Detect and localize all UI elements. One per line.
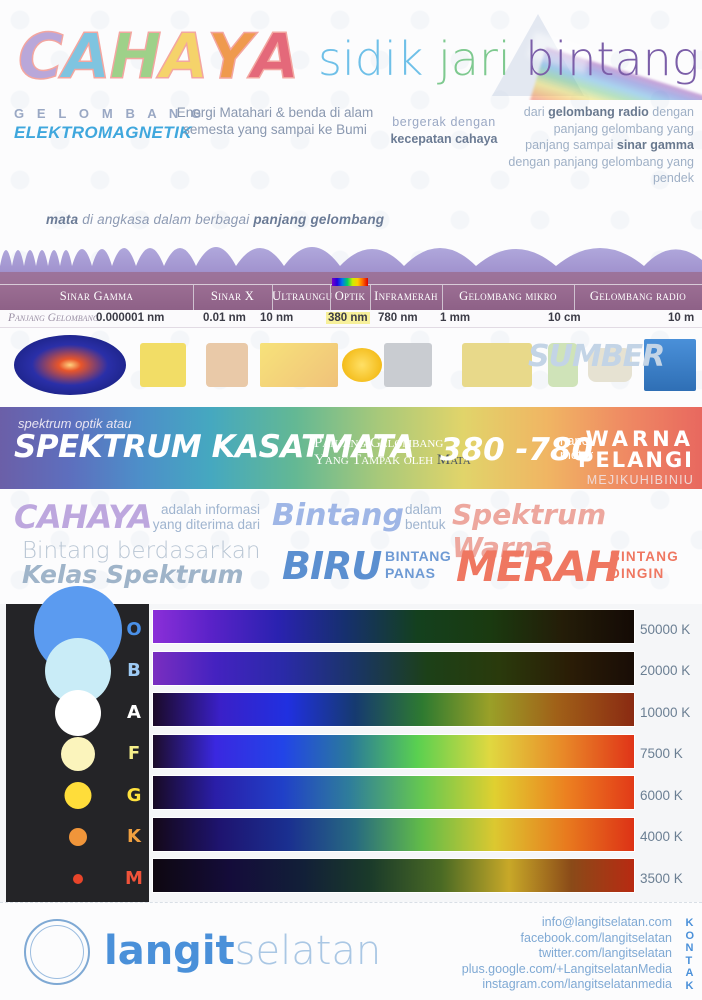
mid-bintang-dingin: BINTANG DINGIN	[610, 548, 679, 582]
title-letter-3: A	[160, 26, 207, 88]
spectrum-row-K	[152, 817, 635, 852]
wavelength-value-4: 780 nm	[378, 312, 418, 324]
energi-text: Energi Matahari & benda di alam semesta …	[175, 104, 375, 138]
em-band-inframerah: Inframerah	[370, 289, 442, 307]
bergerak-text: bergerak dengan kecepatan cahaya	[384, 114, 504, 148]
em-band-ultraungu: Ultraungu	[272, 289, 330, 307]
warna-line3: MEJIKUHIBINIU	[578, 473, 694, 487]
wavelength-value-5: 1 mm	[440, 312, 470, 324]
page-subtitle: sidik jari bintang	[318, 34, 699, 84]
optical-rainbow-strip	[332, 278, 368, 286]
temperature-label-K: 4000 K	[640, 829, 683, 844]
wavelength-value-6: 10 cm	[548, 312, 581, 324]
temperature-label-G: 6000 K	[640, 788, 683, 803]
sumber-label: SUMBER	[528, 339, 664, 374]
middle-statements: CAHAYA adalah informasi yang diterima da…	[0, 492, 702, 592]
subtitle-word-1: jari	[438, 32, 525, 86]
wave-svg	[0, 226, 702, 286]
xray-child-icon	[206, 343, 248, 387]
contact-list: info@langitselatan.comfacebook.com/langi…	[462, 915, 672, 993]
title-letter-4: Y	[207, 26, 251, 88]
title-letter-0: C	[18, 26, 63, 88]
kontak-letter-5: K	[685, 980, 694, 993]
mid-kelas-spektrum: Kelas Spektrum	[22, 560, 244, 589]
wavelength-value-1: 0.01 nm	[203, 312, 246, 324]
mid-merah: MERAH	[456, 542, 619, 591]
heater-radiator-icon	[384, 343, 432, 387]
spectrum-row-A	[152, 692, 635, 727]
mid-panas-l2: PANAS	[385, 565, 451, 582]
em-band-divider	[193, 285, 194, 311]
bergerak-bold: kecepatan cahaya	[390, 132, 497, 146]
brand-wordmark[interactable]: langitselatan	[104, 929, 381, 973]
em-band-gelombang-radio: Gelombang radio	[574, 289, 702, 307]
temperature-label-O: 50000 K	[640, 622, 690, 637]
warna-line1: WARNA	[578, 429, 694, 450]
contact-item-3[interactable]: plus.google.com/+LangitselatanMedia	[462, 962, 672, 978]
mid-dingin-l2: DINGIN	[610, 565, 679, 582]
wavelength-value-2: 10 nm	[260, 312, 293, 324]
kontak-letter-3: T	[685, 955, 694, 968]
visible-spectrum-banner: spektrum optik atau SPEKTRUM KASATMATA P…	[0, 407, 702, 489]
kontak-letter-2: N	[685, 942, 694, 955]
subtitle-word-0: sidik	[318, 32, 438, 86]
em-band-divider	[370, 285, 371, 311]
warna-pelangi-block: WARNA PELANGI MEJIKUHIBINIU	[578, 429, 694, 487]
em-band-divider	[330, 285, 331, 311]
mid-cahaya: CAHAYA	[14, 498, 152, 536]
subtitle-word-2: bintang	[525, 32, 699, 86]
kontak-letter-0: K	[685, 917, 694, 930]
contact-item-4[interactable]: instagram.com/langitselatanmedia	[462, 977, 672, 993]
microwave-oven-icon	[462, 343, 532, 387]
brand-bold: langit	[104, 928, 235, 974]
seal-inner-ring	[30, 925, 84, 979]
em-spectrum-bar: Sinar GammaSinar XUltraunguOptikInframer…	[0, 284, 702, 310]
mata-angkasa-caption: mata di angkasa dalam berbagai panjang g…	[46, 212, 384, 227]
langitselatan-seal-icon	[24, 919, 90, 985]
wave-illustration	[0, 226, 702, 286]
wavelength-value-3: 380 nm	[326, 312, 370, 324]
mid-biru: BIRU	[282, 544, 381, 588]
em-band-sinar-x: Sinar X	[193, 289, 272, 307]
mid-adalah-l1: adalah informasi	[152, 502, 260, 517]
spectrum-row-M	[152, 858, 635, 893]
sunlight-woman-icon	[260, 343, 338, 387]
header: CAHAYA sidik jari bintang	[0, 0, 702, 100]
wavelength-row: Panjang Gelombang 0.000001 nm0.01 nm10 n…	[0, 310, 702, 328]
em-band-optik: Optik	[330, 289, 370, 307]
mid-bintang-panas: BINTANG PANAS	[385, 548, 451, 582]
wavelength-value-7: 10 m	[668, 312, 694, 324]
radiation-hazard-icon	[140, 343, 186, 387]
spectrum-row-B	[152, 651, 635, 686]
wavelength-value-0: 0.000001 nm	[96, 312, 164, 324]
footer: langitselatan info@langitselatan.comface…	[0, 902, 702, 1000]
mid-dalam-l2: bentuk	[405, 517, 446, 532]
spectrum-row-O	[152, 609, 635, 644]
warna-line2: PELANGI	[578, 450, 694, 471]
kontak-letter-4: A	[685, 967, 694, 980]
em-band-divider	[442, 285, 443, 311]
mid-adalah-l2: yang diterima dari	[152, 517, 260, 532]
spectrum-row-G	[152, 775, 635, 810]
temperature-label-B: 20000 K	[640, 663, 690, 678]
contact-item-1[interactable]: facebook.com/langitselatan	[462, 931, 672, 947]
mid-adalah: adalah informasi yang diterima dari	[152, 502, 260, 532]
title-letter-5: A	[251, 26, 298, 88]
kontak-vertical-label: KONTAK	[685, 917, 694, 992]
temperature-label-M: 3500 K	[640, 871, 683, 886]
spectrum-row-F	[152, 734, 635, 769]
temperature-label-F: 7500 K	[640, 746, 683, 761]
galaxy-gamma-map-icon	[14, 335, 126, 395]
spectral-class-chart: OBAFGKM 50000 K20000 K10000 K7500 K6000 …	[0, 604, 702, 902]
lightbulb-icon	[342, 348, 382, 382]
em-band-divider	[574, 285, 575, 311]
contact-item-2[interactable]: twitter.com/langitselatan	[462, 946, 672, 962]
contact-item-0[interactable]: info@langitselatan.com	[462, 915, 672, 931]
mid-panas-l1: BINTANG	[385, 548, 451, 565]
mid-bintang: Bintang	[272, 498, 404, 533]
spectrum-rows: 50000 K20000 K10000 K7500 K6000 K4000 K3…	[0, 604, 702, 902]
page-title: CAHAYA	[18, 26, 298, 88]
mid-dingin-l1: BINTANG	[610, 548, 679, 565]
brand-light: selatan	[235, 928, 382, 974]
kontak-letter-1: O	[685, 930, 694, 943]
title-letter-1: A	[63, 26, 110, 88]
mid-dalam: dalam bentuk	[405, 502, 446, 532]
em-band-gelombang-mikro: Gelombang mikro	[442, 289, 574, 307]
panjang-line2a: Yang Tampak oleh	[314, 452, 437, 468]
infographic-page: CAHAYA sidik jari bintang G E L O M B A …	[0, 0, 702, 1000]
em-band-divider	[272, 285, 273, 311]
em-band-sinar-gamma: Sinar Gamma	[0, 289, 193, 307]
mid-dalam-l1: dalam	[405, 502, 446, 517]
bergerak-plain: bergerak dengan	[392, 115, 496, 129]
title-letter-2: H	[110, 26, 161, 88]
temperature-label-A: 10000 K	[640, 705, 690, 720]
wavelength-values: 0.000001 nm0.01 nm10 nm380 nm780 nm1 mm1…	[0, 310, 702, 327]
